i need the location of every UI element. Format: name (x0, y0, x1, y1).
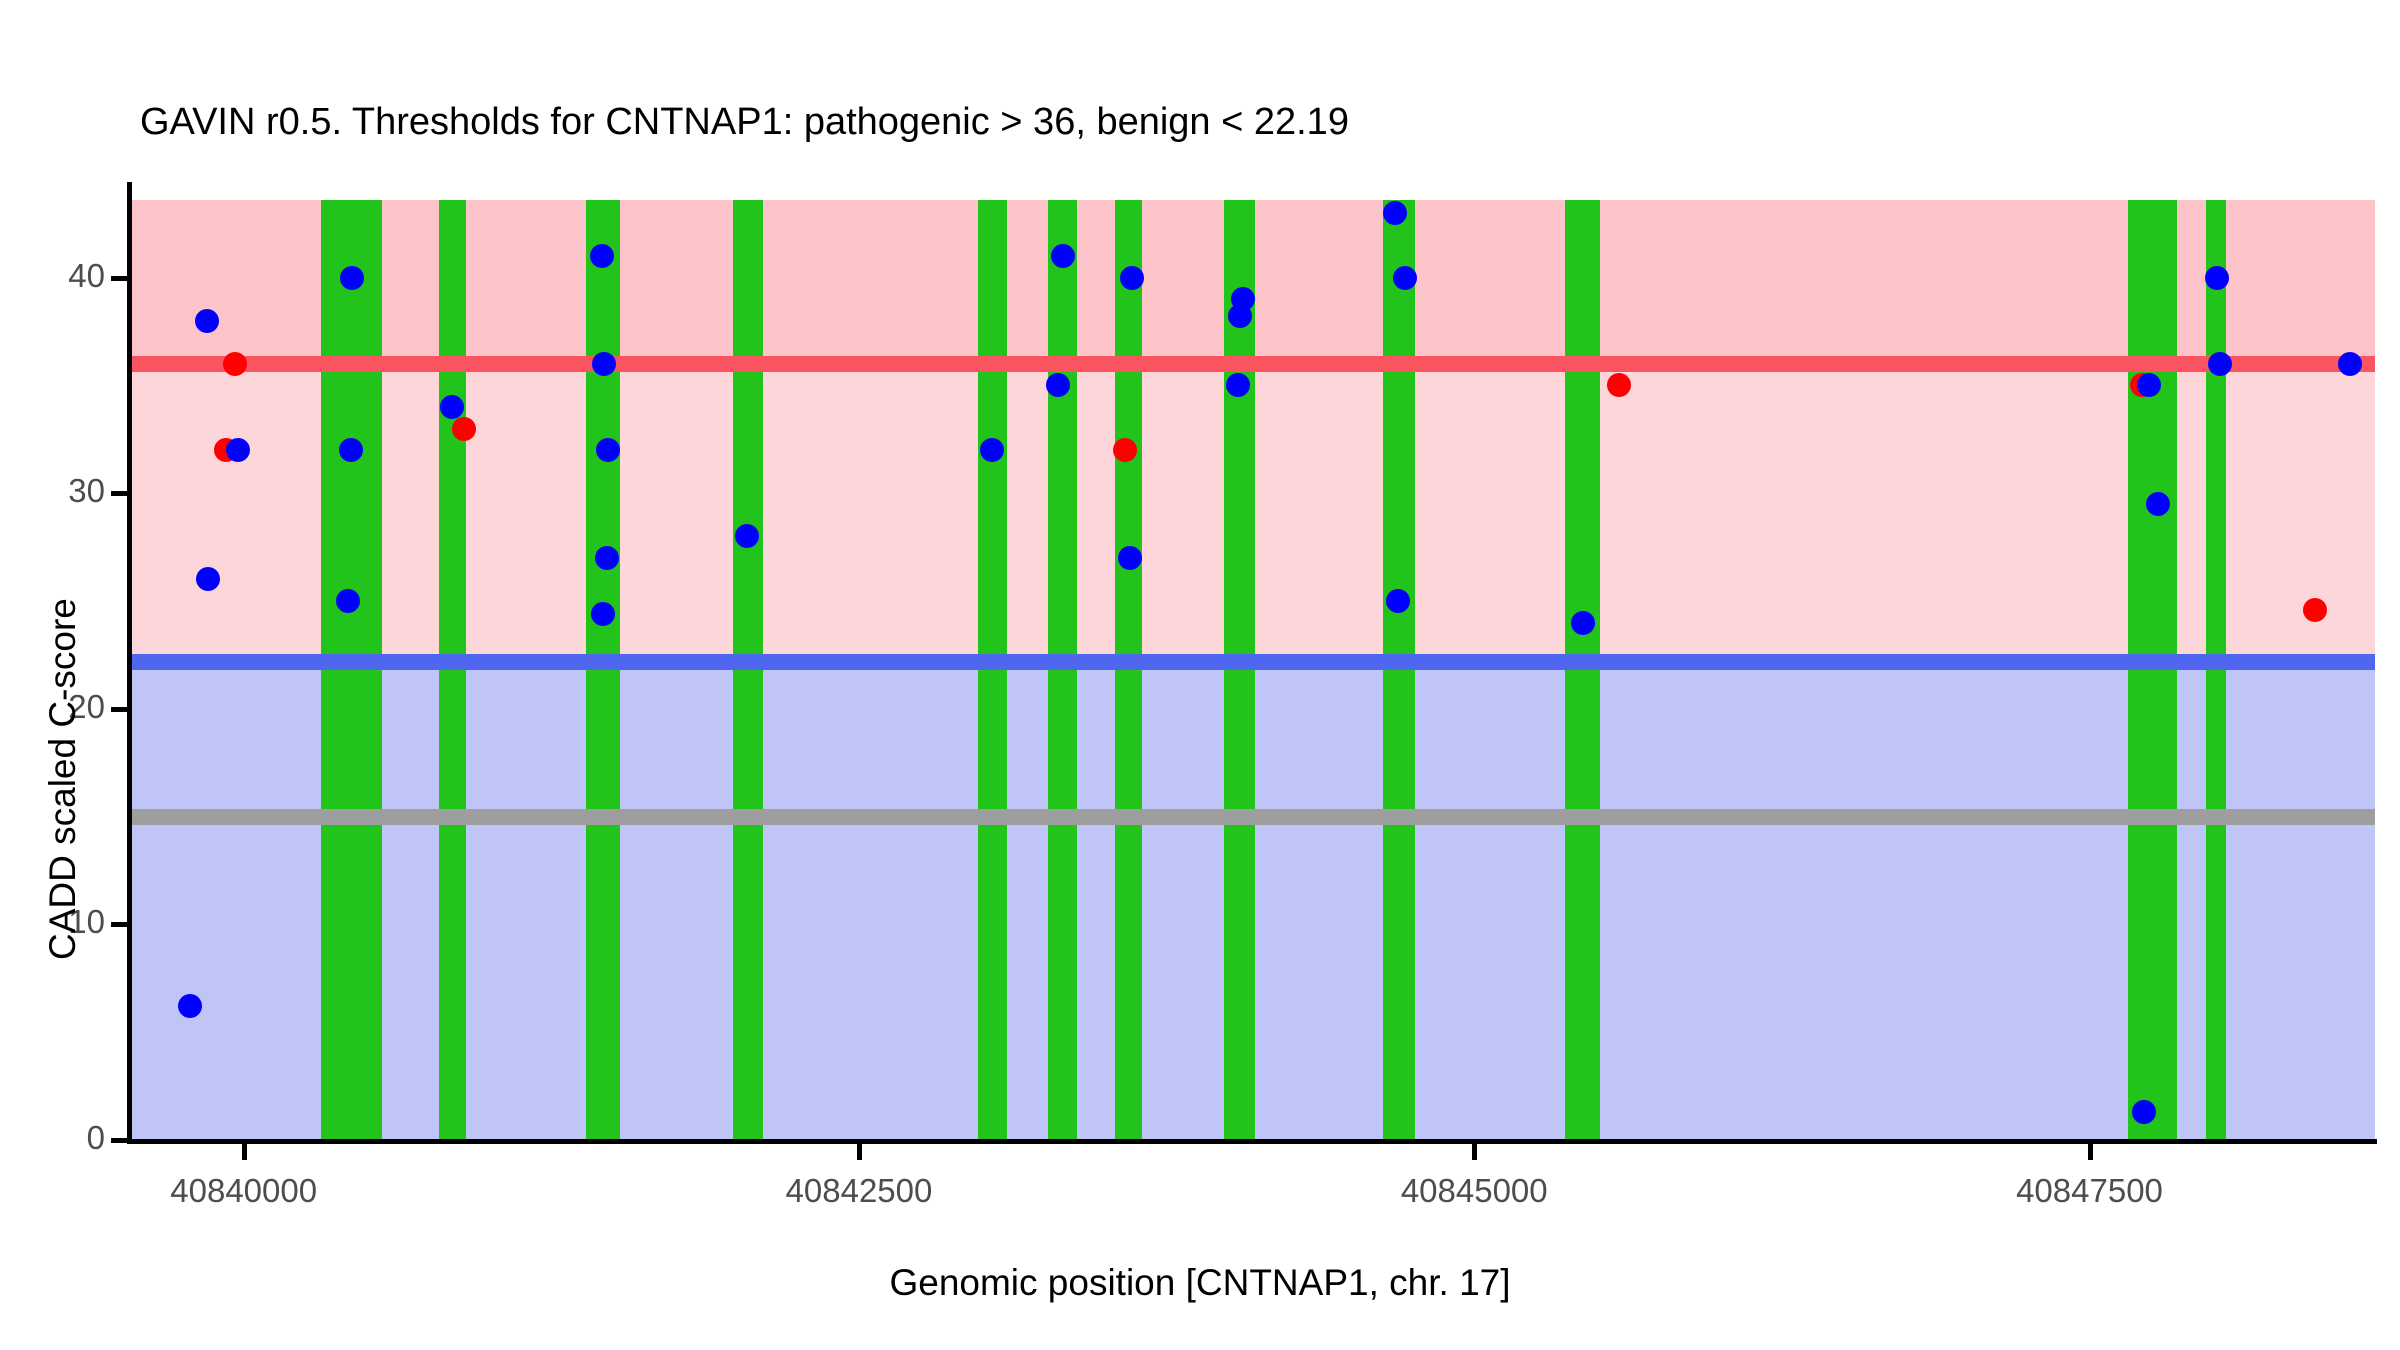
x-tick-label: 40845000 (1324, 1172, 1624, 1210)
x-tick-label: 40842500 (709, 1172, 1009, 1210)
threshold-line-pathogenic (130, 356, 2375, 372)
y-tick-label: 40 (0, 257, 105, 295)
plot-area (130, 200, 2375, 1140)
x-tick (1472, 1144, 1477, 1160)
gnomad-point (339, 438, 363, 462)
gnomad-point (1118, 546, 1142, 570)
exon-bar (1115, 200, 1142, 1140)
exon-bar (2128, 200, 2177, 1140)
y-axis-title: CADD scaled C-score (42, 598, 84, 960)
threshold-line-benign (130, 654, 2375, 670)
clinvar-point (2303, 598, 2327, 622)
threshold-line-genome-wide-fallback (130, 809, 2375, 825)
gnomad-point (1571, 611, 1595, 635)
x-axis-title: Genomic position [CNTNAP1, chr. 17] (0, 1262, 2400, 1304)
title-line-1: GAVIN r0.5. Thresholds for CNTNAP1: path… (140, 100, 2340, 144)
gnomad-point (178, 994, 202, 1018)
y-tick (111, 276, 127, 281)
y-tick (111, 707, 127, 712)
gnomad-point (980, 438, 1004, 462)
gnomad-point (2205, 266, 2229, 290)
x-tick-label: 40840000 (94, 1172, 394, 1210)
exon-bar (1383, 200, 1415, 1140)
exon-bar (586, 200, 620, 1140)
chart-root: GAVIN r0.5. Thresholds for CNTNAP1: path… (0, 0, 2400, 1350)
y-tick-label: 0 (0, 1119, 105, 1157)
y-tick (111, 491, 127, 496)
gnomad-point (440, 395, 464, 419)
y-tick (111, 1138, 127, 1143)
exon-bar (1048, 200, 1076, 1140)
gnomad-point (1393, 266, 1417, 290)
clinvar-point (223, 352, 247, 376)
exon-bar (439, 200, 466, 1140)
x-tick-label: 40847500 (1940, 1172, 2240, 1210)
y-axis-line (127, 182, 132, 1142)
gnomad-point (591, 602, 615, 626)
gnomad-point (1120, 266, 1144, 290)
exon-bar (978, 200, 1006, 1140)
x-tick (242, 1144, 247, 1160)
exon-bar (1565, 200, 1599, 1140)
gnomad-point (2137, 373, 2161, 397)
exon-bar (733, 200, 763, 1140)
gnomad-point (596, 438, 620, 462)
gnomad-point (590, 244, 614, 268)
y-tick-label: 30 (0, 472, 105, 510)
gnomad-point (1386, 589, 1410, 613)
gnomad-point (2208, 352, 2232, 376)
gnomad-point (592, 352, 616, 376)
gnomad-point (195, 309, 219, 333)
x-axis-line (127, 1139, 2377, 1144)
clinvar-point (452, 417, 476, 441)
x-tick (857, 1144, 862, 1160)
exon-bar (2206, 200, 2226, 1140)
exon-bar (321, 200, 381, 1140)
x-tick (2088, 1144, 2093, 1160)
gnomad-point (2132, 1100, 2156, 1124)
y-tick (111, 922, 127, 927)
gnomad-point (340, 266, 364, 290)
exon-bar (1224, 200, 1255, 1140)
clinvar-point (1113, 438, 1137, 462)
